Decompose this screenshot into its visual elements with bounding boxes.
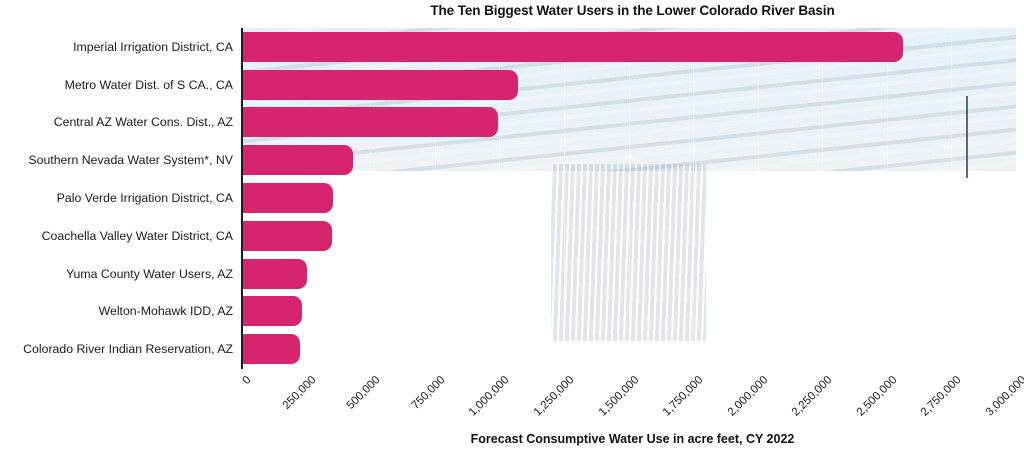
category-label: Welton-Mohawk IDD, AZ	[99, 304, 233, 318]
bar[interactable]	[241, 70, 518, 100]
bar[interactable]	[241, 32, 903, 62]
chart-title: The Ten Biggest Water Users in the Lower…	[241, 3, 1024, 18]
x-tick-label: 2,000,000	[725, 374, 770, 419]
x-tick-label: 2,250,000	[790, 374, 835, 419]
bar[interactable]	[241, 296, 302, 326]
category-label: Imperial Irrigation District, CA	[73, 40, 233, 54]
x-tick-label: 500,000	[345, 374, 383, 412]
x-tick-label: 2,500,000	[855, 374, 900, 419]
x-tick-label: 1,500,000	[596, 374, 641, 419]
x-tick-label: 1,000,000	[467, 374, 512, 419]
gridline	[629, 28, 630, 368]
bar[interactable]	[241, 259, 307, 289]
gridline	[887, 28, 888, 368]
category-label: Metro Water Dist. of S CA., CA	[65, 78, 233, 92]
bar[interactable]	[241, 145, 353, 175]
gridline	[822, 28, 823, 368]
category-label: Colorado River Indian Reservation, AZ	[23, 342, 233, 356]
x-tick-label: 2,750,000	[919, 374, 964, 419]
chart-page: The Ten Biggest Water Users in the Lower…	[0, 0, 1024, 475]
y-axis-line	[241, 28, 243, 369]
bar[interactable]	[241, 107, 498, 137]
x-tick-label: 0	[240, 374, 253, 387]
gridline	[758, 28, 759, 368]
x-axis-title: Forecast Consumptive Water Use in acre f…	[241, 432, 1024, 446]
category-label: Central AZ Water Cons. Dist., AZ	[54, 115, 233, 129]
gridline	[564, 28, 565, 368]
x-tick-label: 3,000,000	[984, 374, 1024, 419]
background-pole	[966, 96, 968, 178]
category-label: Palo Verde Irrigation District, CA	[57, 191, 233, 205]
x-tick-label: 250,000	[280, 374, 318, 412]
gridline	[693, 28, 694, 368]
bar[interactable]	[241, 183, 333, 213]
plot-area	[241, 28, 1016, 368]
bar[interactable]	[241, 334, 300, 364]
x-tick-label: 750,000	[409, 374, 447, 412]
category-label: Southern Nevada Water System*, NV	[28, 153, 233, 167]
bar[interactable]	[241, 221, 332, 251]
gridline	[951, 28, 952, 368]
x-tick-label: 1,750,000	[661, 374, 706, 419]
category-label: Coachella Valley Water District, CA	[42, 229, 233, 243]
x-tick-label: 1,250,000	[532, 374, 577, 419]
category-label: Yuma County Water Users, AZ	[66, 267, 233, 281]
